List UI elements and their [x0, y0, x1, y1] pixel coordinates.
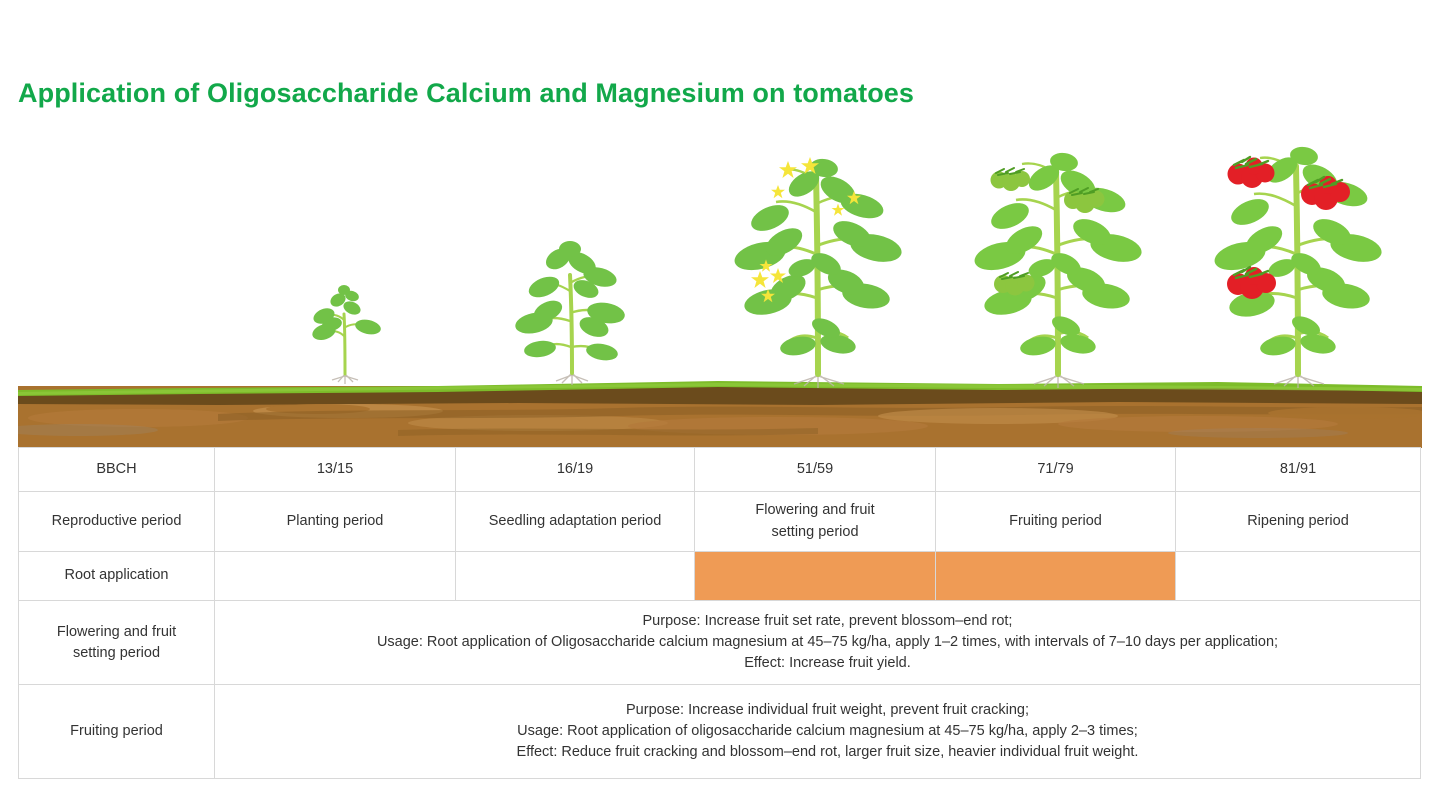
table-row-reproductive-period: Reproductive period Planting period Seed… [19, 492, 1421, 552]
plant-stage-flowering [726, 148, 916, 380]
soil-ground-band [18, 378, 1422, 448]
page-title: Application of Oligosaccharide Calcium a… [18, 78, 914, 109]
bbch-cell-2: 16/19 [456, 448, 695, 492]
flowering-detail-text: Purpose: Increase fruit set rate, preven… [215, 601, 1421, 685]
application-band-segment [936, 552, 1175, 600]
repro-cell-5: Ripening period [1176, 492, 1421, 552]
root-cell-4 [936, 552, 1176, 601]
root-cell-3 [695, 552, 936, 601]
table-row-fruiting-detail: Fruiting period Purpose: Increase indivi… [19, 685, 1421, 779]
table-row-root-application: Root application [19, 552, 1421, 601]
growth-stage-illustration [0, 130, 1440, 448]
fruiting-detail-text: Purpose: Increase individual fruit weigh… [215, 685, 1421, 779]
row-label-bbch: BBCH [19, 448, 215, 492]
bbch-cell-1: 13/15 [215, 448, 456, 492]
root-cell-2 [456, 552, 695, 601]
row-label-flowering-detail: Flowering and fruit setting period [19, 601, 215, 685]
plant-stage-fruiting [966, 148, 1156, 380]
plant-stage-seedling-medium [512, 235, 632, 380]
plant-stage-seedling-small [300, 270, 390, 380]
plant-stage-ripening [1206, 148, 1396, 380]
table-row-flowering-detail: Flowering and fruit setting period Purpo… [19, 601, 1421, 685]
bbch-cell-3: 51/59 [695, 448, 936, 492]
bbch-cell-5: 81/91 [1176, 448, 1421, 492]
root-cell-1 [215, 552, 456, 601]
repro-cell-1: Planting period [215, 492, 456, 552]
repro-cell-2: Seedling adaptation period [456, 492, 695, 552]
row-label-root-application: Root application [19, 552, 215, 601]
bbch-cell-4: 71/79 [936, 448, 1176, 492]
table-row-bbch: BBCH 13/15 16/19 51/59 71/79 81/91 [19, 448, 1421, 492]
application-schedule-table: BBCH 13/15 16/19 51/59 71/79 81/91 Repro… [18, 447, 1421, 779]
row-label-fruiting-detail: Fruiting period [19, 685, 215, 779]
repro-cell-3: Flowering and fruit setting period [695, 492, 936, 552]
repro-cell-4: Fruiting period [936, 492, 1176, 552]
root-cell-5 [1176, 552, 1421, 601]
row-label-reproductive-period: Reproductive period [19, 492, 215, 552]
application-band-segment [695, 552, 935, 600]
